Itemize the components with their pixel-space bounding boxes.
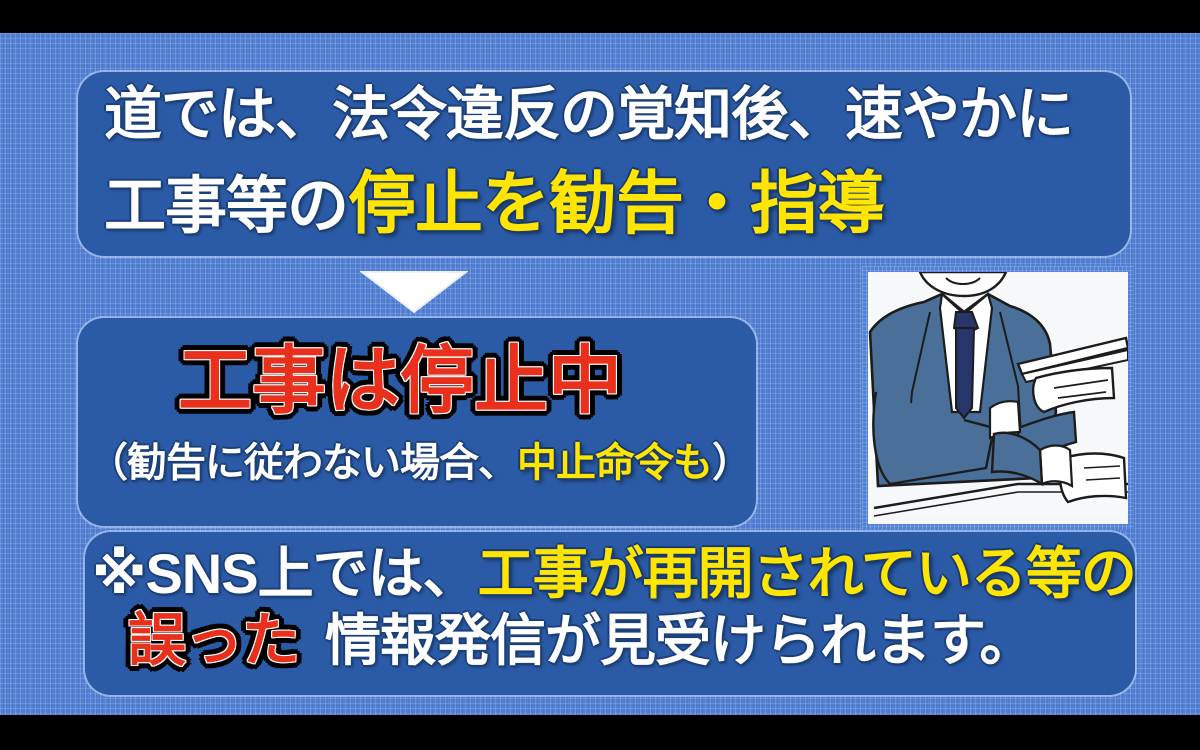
- panel-middle-note-highlight: 中止命令も: [517, 441, 712, 485]
- panel-middle-note-prefix: （勧告に従わない場合、: [88, 441, 517, 485]
- panel-middle-headline-text: 工事は停止中: [178, 339, 622, 422]
- businessman-handing-documents-illustration: [862, 266, 1134, 530]
- slide-canvas: 道では、法令違反の覚知後、速やかに 工事等の停止を勧告・指導 工事は停止中 （勧…: [0, 0, 1200, 750]
- panel-bottom-line2-suffix: 情報発信が見受けられます。: [325, 609, 1034, 672]
- illustration-frame: [868, 272, 1128, 524]
- panel-middle-headline: 工事は停止中: [178, 344, 622, 418]
- panel-bottom-line2-highlight: 誤った: [128, 608, 299, 673]
- panel-top-line1-text: 道では、法令違反の覚知後、速やかに: [104, 82, 1073, 147]
- letterbox-bar-bottom: [0, 715, 1200, 750]
- panel-top-line2: 工事等の停止を勧告・指導: [104, 170, 884, 238]
- arrow-down-triangle-icon: [360, 268, 468, 314]
- panel-bottom-line1: ※SNS上では、工事が再開されている等の: [92, 546, 1136, 602]
- letterbox-bar-top: [0, 0, 1200, 33]
- panel-middle-note-suffix: ）: [712, 441, 751, 485]
- panel-top-line1: 道では、法令違反の覚知後、速やかに: [104, 86, 1073, 144]
- panel-bottom-line1-highlight: 工事が再開されている等の: [478, 542, 1136, 605]
- panel-middle-note: （勧告に従わない場合、中止命令も）: [88, 443, 751, 483]
- panel-bottom-line2: 誤った情報発信が見受けられます。: [128, 612, 1034, 670]
- panel-bottom-line1-prefix: ※SNS上では、: [92, 542, 478, 605]
- panel-top-line2-prefix: 工事等の: [104, 172, 348, 241]
- panel-top-line2-highlight: 停止を勧告・指導: [348, 166, 884, 242]
